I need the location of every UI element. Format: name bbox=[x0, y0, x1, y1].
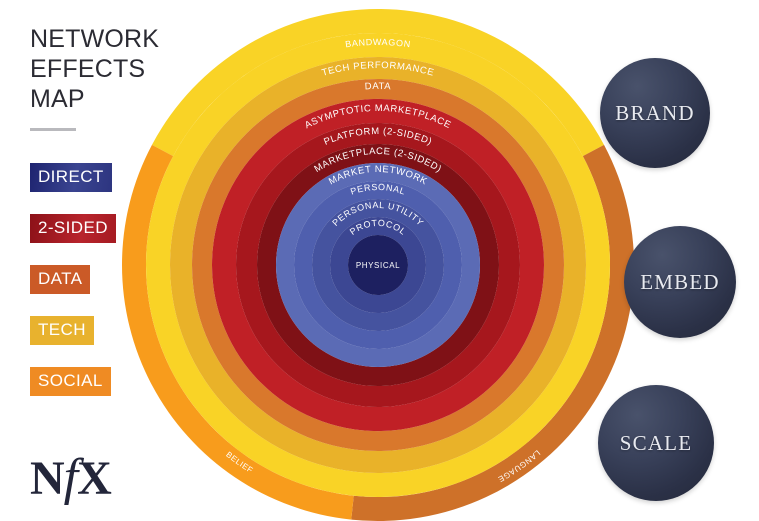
node-brand[interactable]: BRAND bbox=[600, 58, 710, 168]
title-block: NETWORK EFFECTS MAP bbox=[30, 24, 180, 131]
page-title-line-2: EFFECTS bbox=[30, 54, 180, 84]
legend-item-data[interactable]: DATA bbox=[30, 265, 90, 294]
node-scale[interactable]: SCALE bbox=[598, 385, 714, 501]
node-embed[interactable]: EMBED bbox=[624, 226, 736, 338]
nfx-logo-f: f bbox=[64, 449, 77, 506]
node-embed-label: EMBED bbox=[640, 270, 720, 295]
legend-item-social[interactable]: SOCIAL bbox=[30, 367, 111, 396]
legend-item-direct[interactable]: DIRECT bbox=[30, 163, 112, 192]
node-scale-label: SCALE bbox=[620, 431, 693, 456]
nfx-logo-n: N bbox=[30, 452, 64, 505]
nfx-logo[interactable]: NfX bbox=[30, 452, 111, 504]
legend-item-tech[interactable]: TECH bbox=[30, 316, 94, 345]
legend-item-2-sided[interactable]: 2-SIDED bbox=[30, 214, 116, 243]
title-divider bbox=[30, 128, 76, 131]
page-title: NETWORK EFFECTS MAP bbox=[30, 24, 180, 114]
legend: DIRECT 2-SIDED DATA TECH SOCIAL bbox=[30, 163, 180, 418]
infographic-canvas: NETWORK EFFECTS MAP DIRECT 2-SIDED DATA … bbox=[0, 0, 759, 521]
page-title-line-3: MAP bbox=[30, 84, 180, 114]
node-brand-label: BRAND bbox=[615, 101, 695, 126]
page-title-line-1: NETWORK bbox=[30, 24, 180, 54]
ring-label-physical: PHYSICAL bbox=[356, 261, 400, 270]
ring-label-data: DATA bbox=[364, 81, 391, 92]
nfx-logo-x: X bbox=[77, 452, 111, 505]
